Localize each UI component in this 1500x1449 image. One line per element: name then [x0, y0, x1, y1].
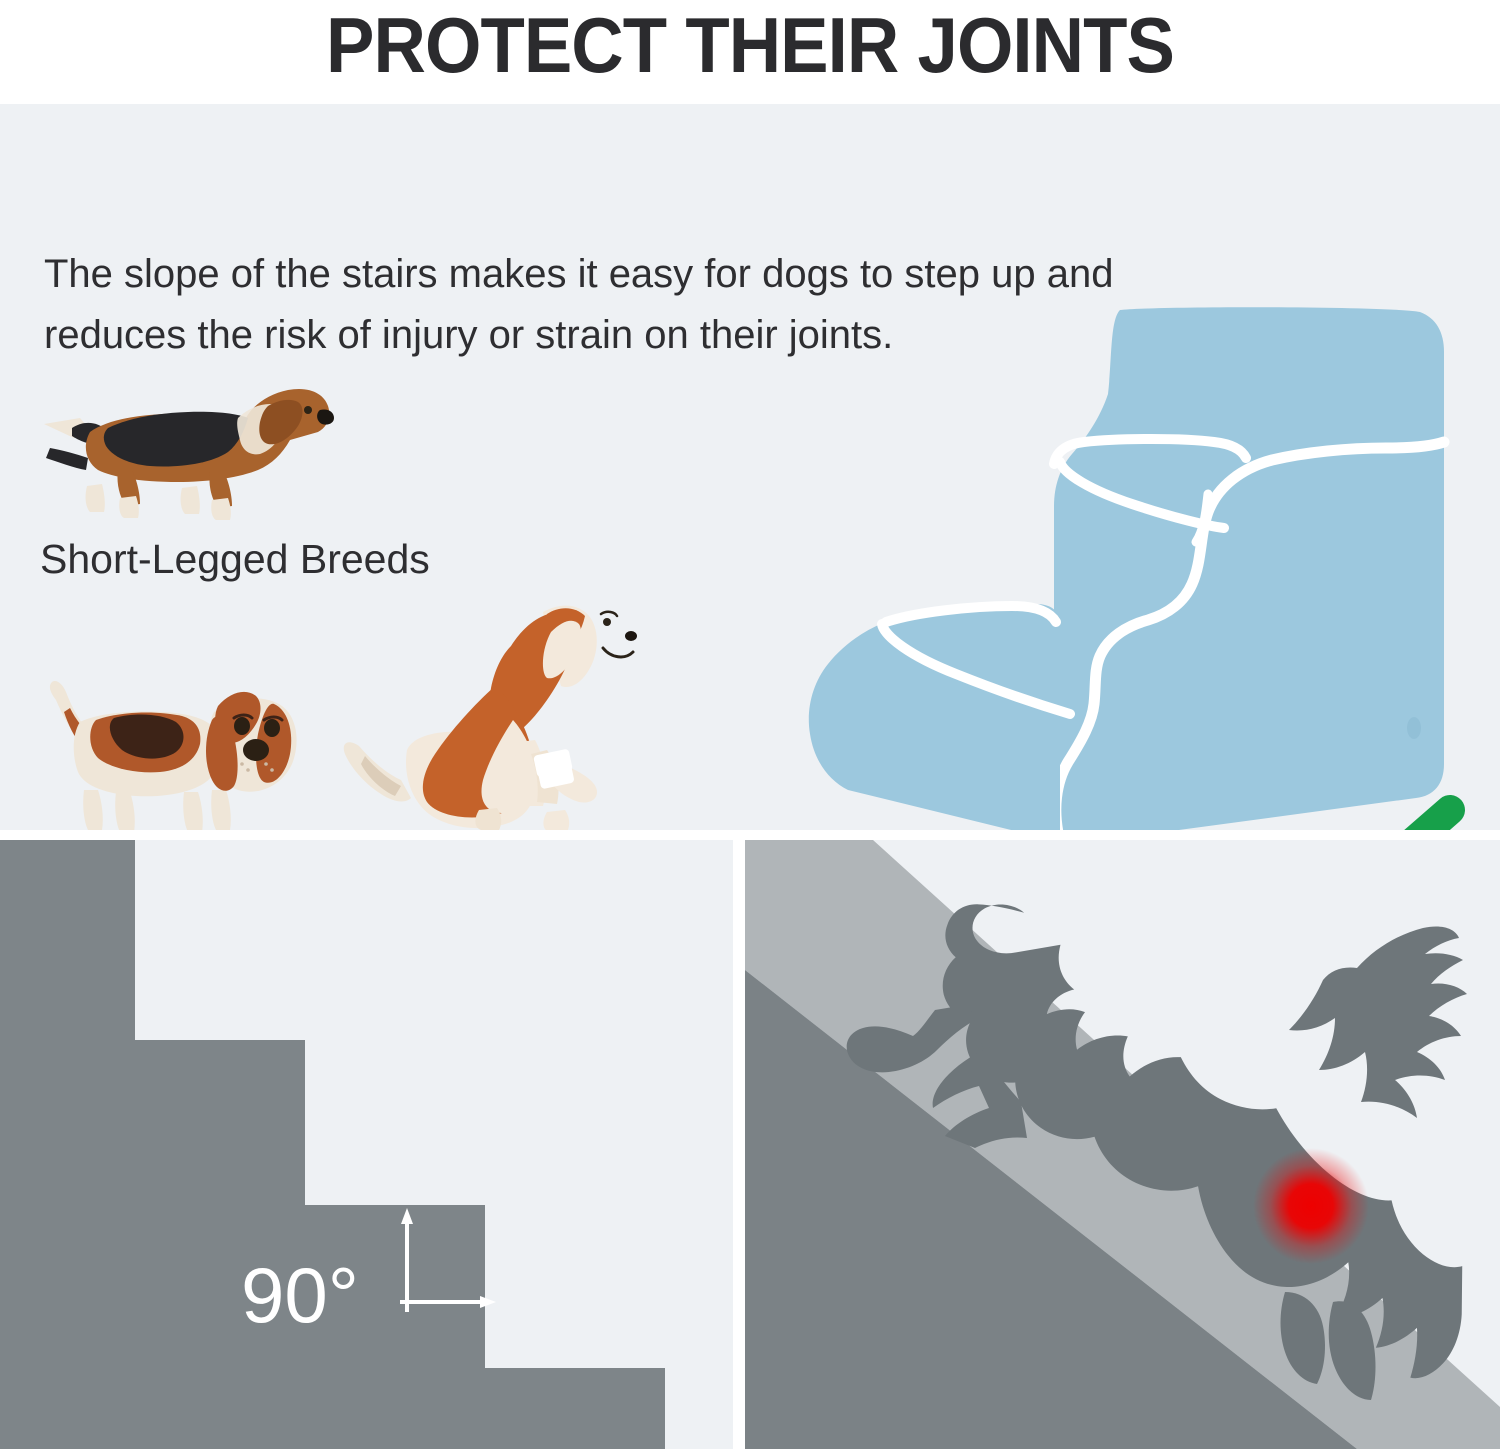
green-check-icon [1296, 798, 1466, 830]
angle-annotation-label: 90° [241, 1251, 359, 1339]
benefits-panel: The slope of the stairs makes it easy fo… [0, 104, 1500, 830]
steep-stairs-panel: 90° [0, 840, 733, 1449]
dog-jumping-down-ramp-silhouette [745, 840, 1500, 1449]
page-title: PROTECT THEIR JOINTS [53, 0, 1448, 94]
steep-staircase-silhouette: 90° [0, 840, 733, 1449]
basset-hound-dog-illustration [36, 660, 316, 830]
sitting-dog-with-bandage-illustration [335, 574, 665, 830]
red-joint-pain-glow [1253, 1148, 1369, 1264]
title-bar: PROTECT THEIR JOINTS [0, 0, 1500, 98]
dachshund-dog-illustration [32, 366, 342, 526]
blue-foam-pet-stairs-illustration [760, 290, 1460, 830]
jumping-dog-ramp-panel [745, 840, 1500, 1449]
